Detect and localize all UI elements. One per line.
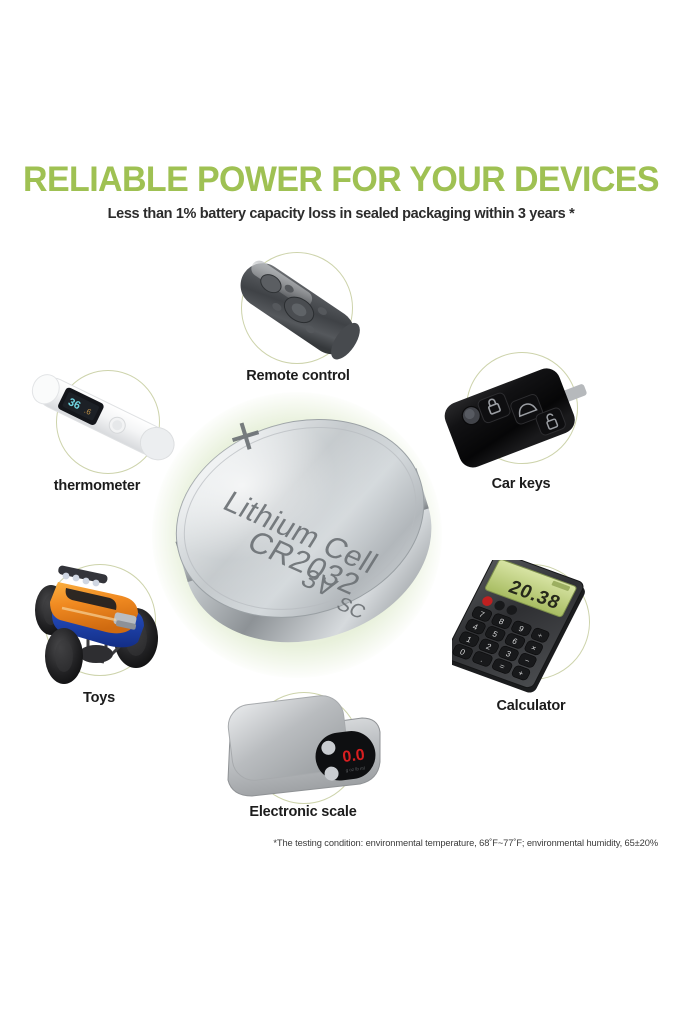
device-car-keys: Car keys — [428, 348, 614, 508]
page-subtitle: Less than 1% battery capacity loss in se… — [0, 206, 682, 222]
device-label: Toys — [0, 690, 199, 706]
device-remote-control: Remote control — [205, 248, 391, 396]
thermometer-icon: 36 .6 — [22, 362, 182, 483]
calculator-icon: 20.38 — [452, 560, 612, 701]
device-label: Calculator — [431, 698, 631, 714]
page-title: RELIABLE POWER FOR YOUR DEVICES — [10, 160, 672, 200]
scale-display-value: 0.0 — [342, 746, 366, 766]
remote-control-icon — [221, 250, 371, 373]
car-key-fob-icon — [440, 354, 600, 479]
device-electronic-scale: 0.0 g oz lb ml Electronic scale — [206, 688, 400, 828]
battery-image: + Lithium Cell CR2032 3V SC — [163, 408, 443, 658]
device-label: Remote control — [198, 368, 398, 384]
infographic-canvas: RELIABLE POWER FOR YOUR DEVICES Less tha… — [0, 0, 682, 1024]
rc-monster-truck-icon — [18, 556, 184, 695]
device-calculator: 20.38 — [438, 558, 624, 720]
device-thermometer: 36 .6 thermometer — [8, 358, 186, 508]
device-toys: Toys — [8, 548, 190, 730]
device-label: Car keys — [421, 476, 621, 492]
device-label: thermometer — [0, 478, 197, 494]
device-label: Electronic scale — [203, 804, 403, 820]
kitchen-scale-icon: 0.0 g oz lb ml — [212, 688, 392, 811]
footnote-text: *The testing condition: environmental te… — [0, 838, 682, 848]
